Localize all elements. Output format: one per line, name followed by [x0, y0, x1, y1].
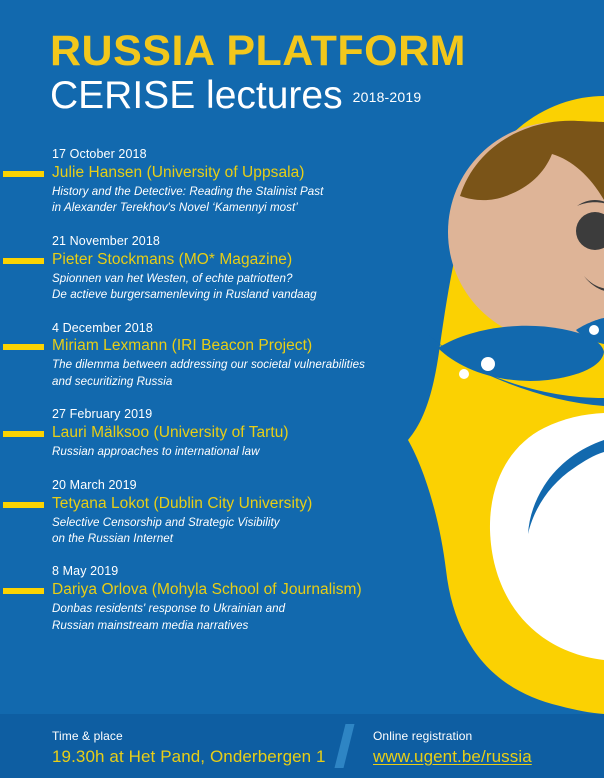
lecture-item: 20 March 2019Tetyana Lokot (Dublin City … — [0, 477, 420, 548]
lecture-list: 17 October 2018Julie Hansen (University … — [0, 146, 420, 650]
lecture-speaker: Pieter Stockmans (MO* Magazine) — [52, 250, 420, 270]
footer-separator-slash — [335, 724, 355, 768]
footer-registration: Online registration www.ugent.be/russia — [373, 728, 532, 769]
lecture-date: 27 February 2019 — [52, 406, 420, 423]
doll-scarf-edge — [528, 440, 604, 534]
lecture-date: 20 March 2019 — [52, 477, 420, 494]
doll-scarf-fold-seam — [428, 334, 604, 406]
doll-face — [448, 122, 604, 342]
doll-petal-dot — [459, 369, 469, 379]
doll-body-shape — [408, 96, 604, 714]
lecture-item: 4 December 2018Miriam Lexmann (IRI Beaco… — [0, 320, 420, 391]
registration-url-link[interactable]: www.ugent.be/russia — [373, 745, 532, 769]
lecture-speaker-row: Julie Hansen (University of Uppsala) — [0, 163, 420, 184]
lecture-speaker-row: Lauri Mälksoo (University of Tartu) — [0, 423, 420, 444]
poster-footer: Time & place 19.30h at Het Pand, Onderbe… — [0, 714, 604, 778]
poster-header: RUSSIA PLATFORM CERISE lectures 2018-201… — [50, 30, 466, 117]
lecture-date: 21 November 2018 — [52, 233, 420, 250]
lecture-description-line: Spionnen van het Westen, of echte patrio… — [52, 271, 420, 287]
lecture-description-line: on the Russian Internet — [52, 531, 420, 547]
accent-bar-icon — [3, 171, 44, 177]
doll-petal-large — [438, 326, 604, 381]
lecture-description-line: Russian mainstream media narratives — [52, 618, 420, 634]
lecture-item: 17 October 2018Julie Hansen (University … — [0, 146, 420, 217]
lecture-speaker-row: Miriam Lexmann (IRI Beacon Project) — [0, 336, 420, 357]
accent-bar-icon — [3, 344, 44, 350]
doll-petal-dot — [481, 357, 495, 371]
lecture-description-line: History and the Detective: Reading the S… — [52, 184, 420, 200]
accent-bar-icon — [3, 258, 44, 264]
lecture-date: 17 October 2018 — [52, 146, 420, 163]
lecture-speaker-row: Tetyana Lokot (Dublin City University) — [0, 494, 420, 515]
accent-bar-icon — [3, 431, 44, 437]
lecture-description-line: De actieve burgersamenleving in Rusland … — [52, 287, 420, 303]
doll-petal-small — [576, 318, 604, 344]
accent-bar-icon — [3, 502, 44, 508]
lecture-date: 8 May 2019 — [52, 563, 420, 580]
lecture-speaker: Miriam Lexmann (IRI Beacon Project) — [52, 336, 420, 356]
accent-bar-icon — [3, 588, 44, 594]
lecture-speaker: Julie Hansen (University of Uppsala) — [52, 163, 420, 183]
doll-eyebrow — [577, 200, 604, 206]
lecture-speaker: Dariya Orlova (Mohyla School of Journali… — [52, 580, 420, 600]
lecture-date: 4 December 2018 — [52, 320, 420, 337]
doll-apron — [490, 413, 604, 660]
doll-eye — [576, 212, 604, 250]
doll-petal-dot — [589, 325, 599, 335]
subtitle-row: CERISE lectures 2018-2019 — [50, 76, 466, 117]
lecture-speaker-row: Pieter Stockmans (MO* Magazine) — [0, 250, 420, 271]
footer-time-place: Time & place 19.30h at Het Pand, Onderbe… — [52, 728, 326, 769]
lecture-description-line: Donbas residents' response to Ukrainian … — [52, 601, 420, 617]
lecture-description-line: in Alexander Terekhov's Novel ‘Kamennyi … — [52, 200, 420, 216]
time-place-value: 19.30h at Het Pand, Onderbergen 1 — [52, 745, 326, 769]
lecture-item: 21 November 2018Pieter Stockmans (MO* Ma… — [0, 233, 420, 304]
doll-hair — [460, 121, 604, 200]
doll-mouth — [584, 276, 604, 292]
lecture-description-line: and securitizing Russia — [52, 374, 420, 390]
lecture-item: 27 February 2019Lauri Mälksoo (Universit… — [0, 406, 420, 460]
page-subtitle: CERISE lectures — [50, 76, 343, 117]
lecture-speaker: Lauri Mälksoo (University of Tartu) — [52, 423, 420, 443]
academic-year-badge: 2018-2019 — [353, 89, 422, 105]
time-place-label: Time & place — [52, 728, 326, 744]
page-title: RUSSIA PLATFORM — [50, 30, 466, 74]
lecture-description-line: The dilemma between addressing our socie… — [52, 357, 420, 373]
poster-canvas: RUSSIA PLATFORM CERISE lectures 2018-201… — [0, 0, 604, 778]
lecture-description-line: Russian approaches to international law — [52, 444, 420, 460]
lecture-speaker: Tetyana Lokot (Dublin City University) — [52, 494, 420, 514]
registration-label: Online registration — [373, 728, 532, 744]
lecture-item: 8 May 2019Dariya Orlova (Mohyla School o… — [0, 563, 420, 634]
lecture-speaker-row: Dariya Orlova (Mohyla School of Journali… — [0, 580, 420, 601]
lecture-description-line: Selective Censorship and Strategic Visib… — [52, 515, 420, 531]
